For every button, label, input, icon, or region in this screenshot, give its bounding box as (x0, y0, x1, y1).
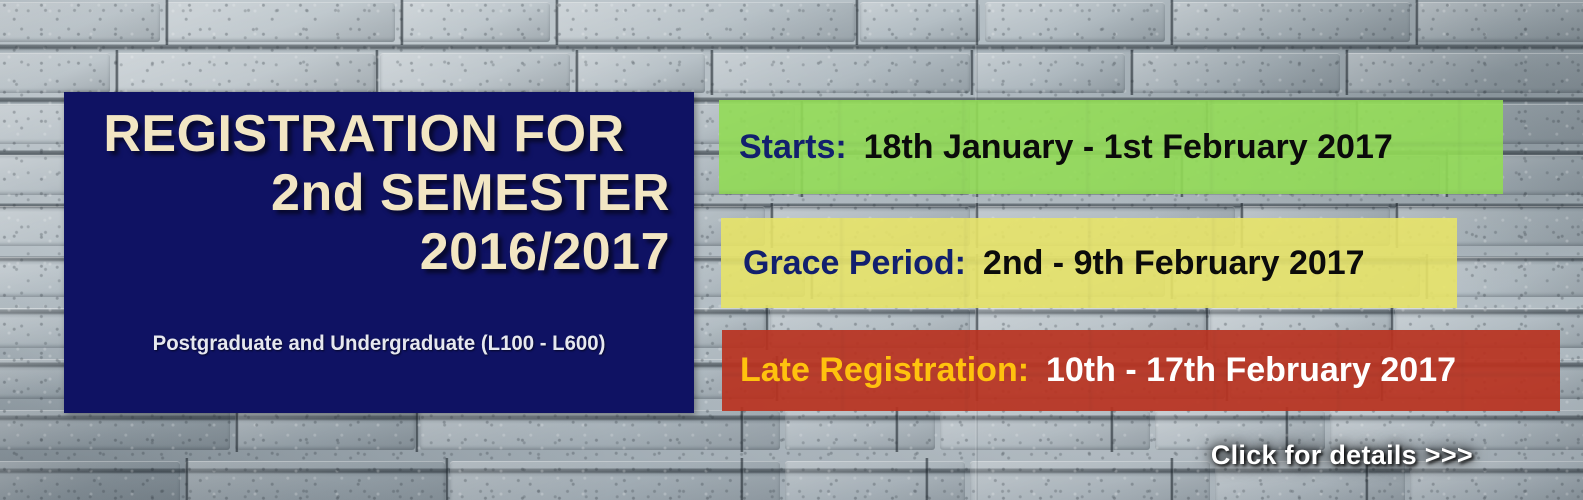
registration-banner: REGISTRATION FOR 2nd SEMESTER 2016/2017 … (0, 0, 1583, 500)
schedule-strip-grace-period[interactable]: Grace Period: 2nd - 9th February 2017 (721, 218, 1457, 308)
late-registration-label: Late Registration: (740, 351, 1029, 389)
page-title: REGISTRATION FOR 2nd SEMESTER 2016/2017 (64, 108, 670, 279)
grace-period-label: Grace Period: (743, 244, 966, 282)
starts-label: Starts: (739, 128, 847, 166)
starts-value: 18th January - 1st February 2017 (864, 128, 1393, 166)
schedule-strip-late-registration[interactable]: Late Registration: 10th - 17th February … (722, 330, 1560, 411)
title-line-2: 2nd SEMESTER (64, 167, 670, 220)
panel-subtitle: Postgraduate and Undergraduate (L100 - L… (73, 332, 684, 356)
registration-title-panel: REGISTRATION FOR 2nd SEMESTER 2016/2017 … (64, 92, 694, 413)
late-registration-value: 10th - 17th February 2017 (1046, 351, 1456, 389)
schedule-strip-starts[interactable]: Starts: 18th January - 1st February 2017 (719, 100, 1503, 194)
title-line-1: REGISTRATION FOR (64, 108, 670, 161)
grace-period-value: 2nd - 9th February 2017 (983, 244, 1365, 282)
click-for-details-link[interactable]: Click for details >>> (1211, 440, 1473, 471)
title-line-3: 2016/2017 (64, 226, 670, 279)
